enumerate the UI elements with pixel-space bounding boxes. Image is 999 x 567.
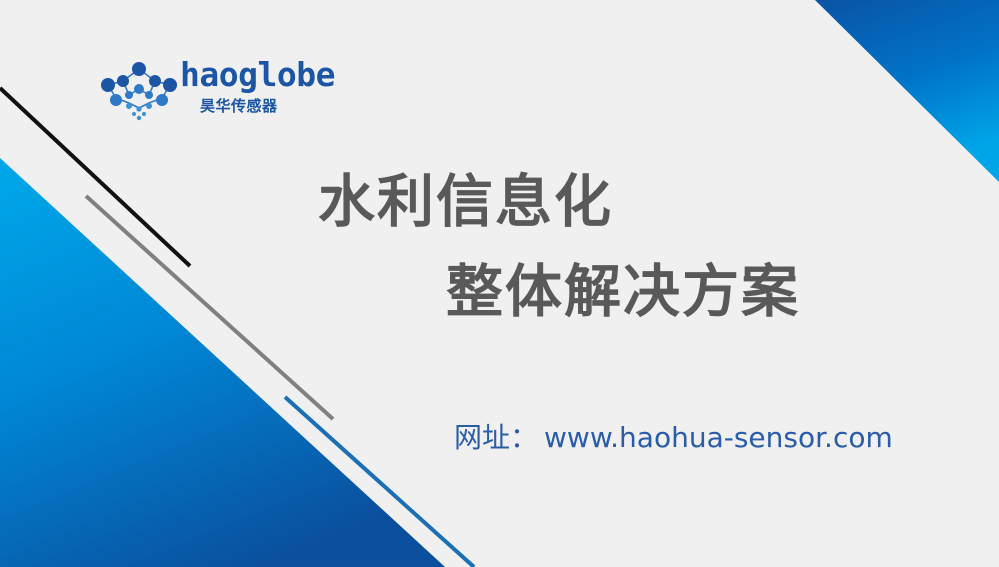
top-right-triangle <box>815 0 999 182</box>
network-dots-icon <box>96 59 182 121</box>
diagonal-line-blue <box>285 397 474 567</box>
website-url[interactable]: www.haohua-sensor.com <box>544 421 893 454</box>
brand-wordmark: haoglobe <box>180 55 336 97</box>
svg-text:haoglobe: haoglobe <box>180 55 335 94</box>
brand-logo: haoglobe 昊华传感器 <box>96 55 336 127</box>
page-title-line-2: 整体解决方案 <box>446 258 800 326</box>
diagonal-line-gray <box>86 196 333 419</box>
brand-chinese-name: 昊华传感器 <box>200 95 278 116</box>
website-label: 网址： <box>454 421 538 454</box>
page-title-line-1: 水利信息化 <box>318 168 613 236</box>
website-line: 网址：www.haohua-sensor.com <box>454 418 893 458</box>
slide-canvas: haoglobe 昊华传感器 水利信息化 整体解决方案 网址：www.haohu… <box>0 0 999 567</box>
